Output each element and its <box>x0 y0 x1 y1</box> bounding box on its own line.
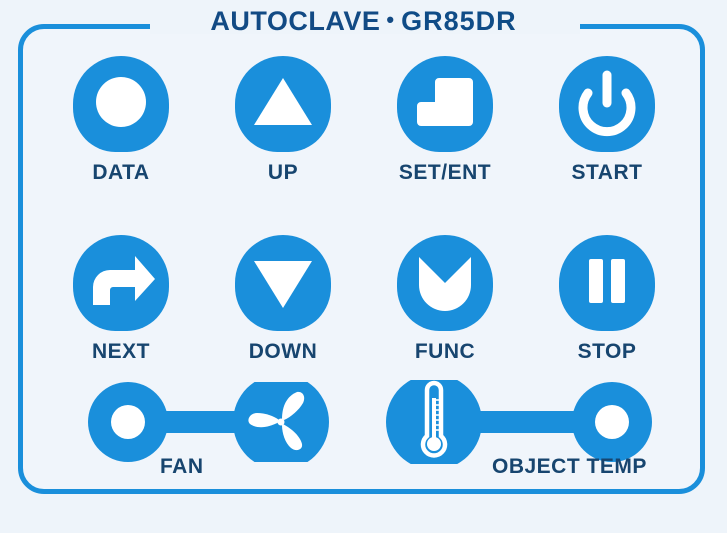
set-ent-button-label: SET/ENT <box>399 161 491 185</box>
fan-toggle[interactable] <box>86 382 336 456</box>
stop-button-label: STOP <box>578 340 637 364</box>
model-number: GR85DR <box>401 6 517 36</box>
notched-blob-icon <box>397 235 493 331</box>
autoclave-control-panel: AUTOCLAVE•GR85DR DATA <box>0 0 727 533</box>
ring-circle-icon <box>73 56 169 152</box>
button-cell-stop: STOP <box>526 235 688 364</box>
down-button[interactable] <box>235 235 331 331</box>
up-button-label: UP <box>268 161 298 185</box>
button-row-2: NEXT DOWN <box>40 235 690 364</box>
page-title-prefix: AUTOCLAVE <box>210 6 380 36</box>
button-grid: DATA UP <box>40 56 690 364</box>
button-cell-up: UP <box>202 56 364 185</box>
button-cell-data: DATA <box>40 56 202 185</box>
pause-icon <box>559 235 655 331</box>
next-button[interactable] <box>73 235 169 331</box>
stop-button[interactable] <box>559 235 655 331</box>
func-button[interactable] <box>397 235 493 331</box>
down-button-label: DOWN <box>249 340 318 364</box>
button-cell-set-ent: SET/ENT <box>364 56 526 185</box>
triangle-down-icon <box>235 235 331 331</box>
title-separator-dot: • <box>380 7 401 32</box>
button-cell-next: NEXT <box>40 235 202 364</box>
button-row-1: DATA UP <box>40 56 690 185</box>
power-icon <box>559 56 655 152</box>
data-button-label: DATA <box>92 161 149 185</box>
up-button[interactable] <box>235 56 331 152</box>
button-cell-start: START <box>526 56 688 185</box>
panel-title: AUTOCLAVE•GR85DR <box>0 6 727 37</box>
fan-toggle-label: FAN <box>160 455 204 479</box>
toggle-row: FAN <box>0 372 727 502</box>
triangle-up-icon <box>235 56 331 152</box>
button-cell-down: DOWN <box>202 235 364 364</box>
object-temp-toggle[interactable] <box>374 380 664 454</box>
start-button-label: START <box>572 161 643 185</box>
button-cell-func: FUNC <box>364 235 526 364</box>
step-block-icon <box>397 56 493 152</box>
next-button-label: NEXT <box>92 340 150 364</box>
data-button[interactable] <box>73 56 169 152</box>
start-button[interactable] <box>559 56 655 152</box>
curved-arrow-right-icon <box>73 235 169 331</box>
object-temp-toggle-label: OBJECT TEMP <box>492 455 647 479</box>
func-button-label: FUNC <box>415 340 475 364</box>
set-ent-button[interactable] <box>397 56 493 152</box>
